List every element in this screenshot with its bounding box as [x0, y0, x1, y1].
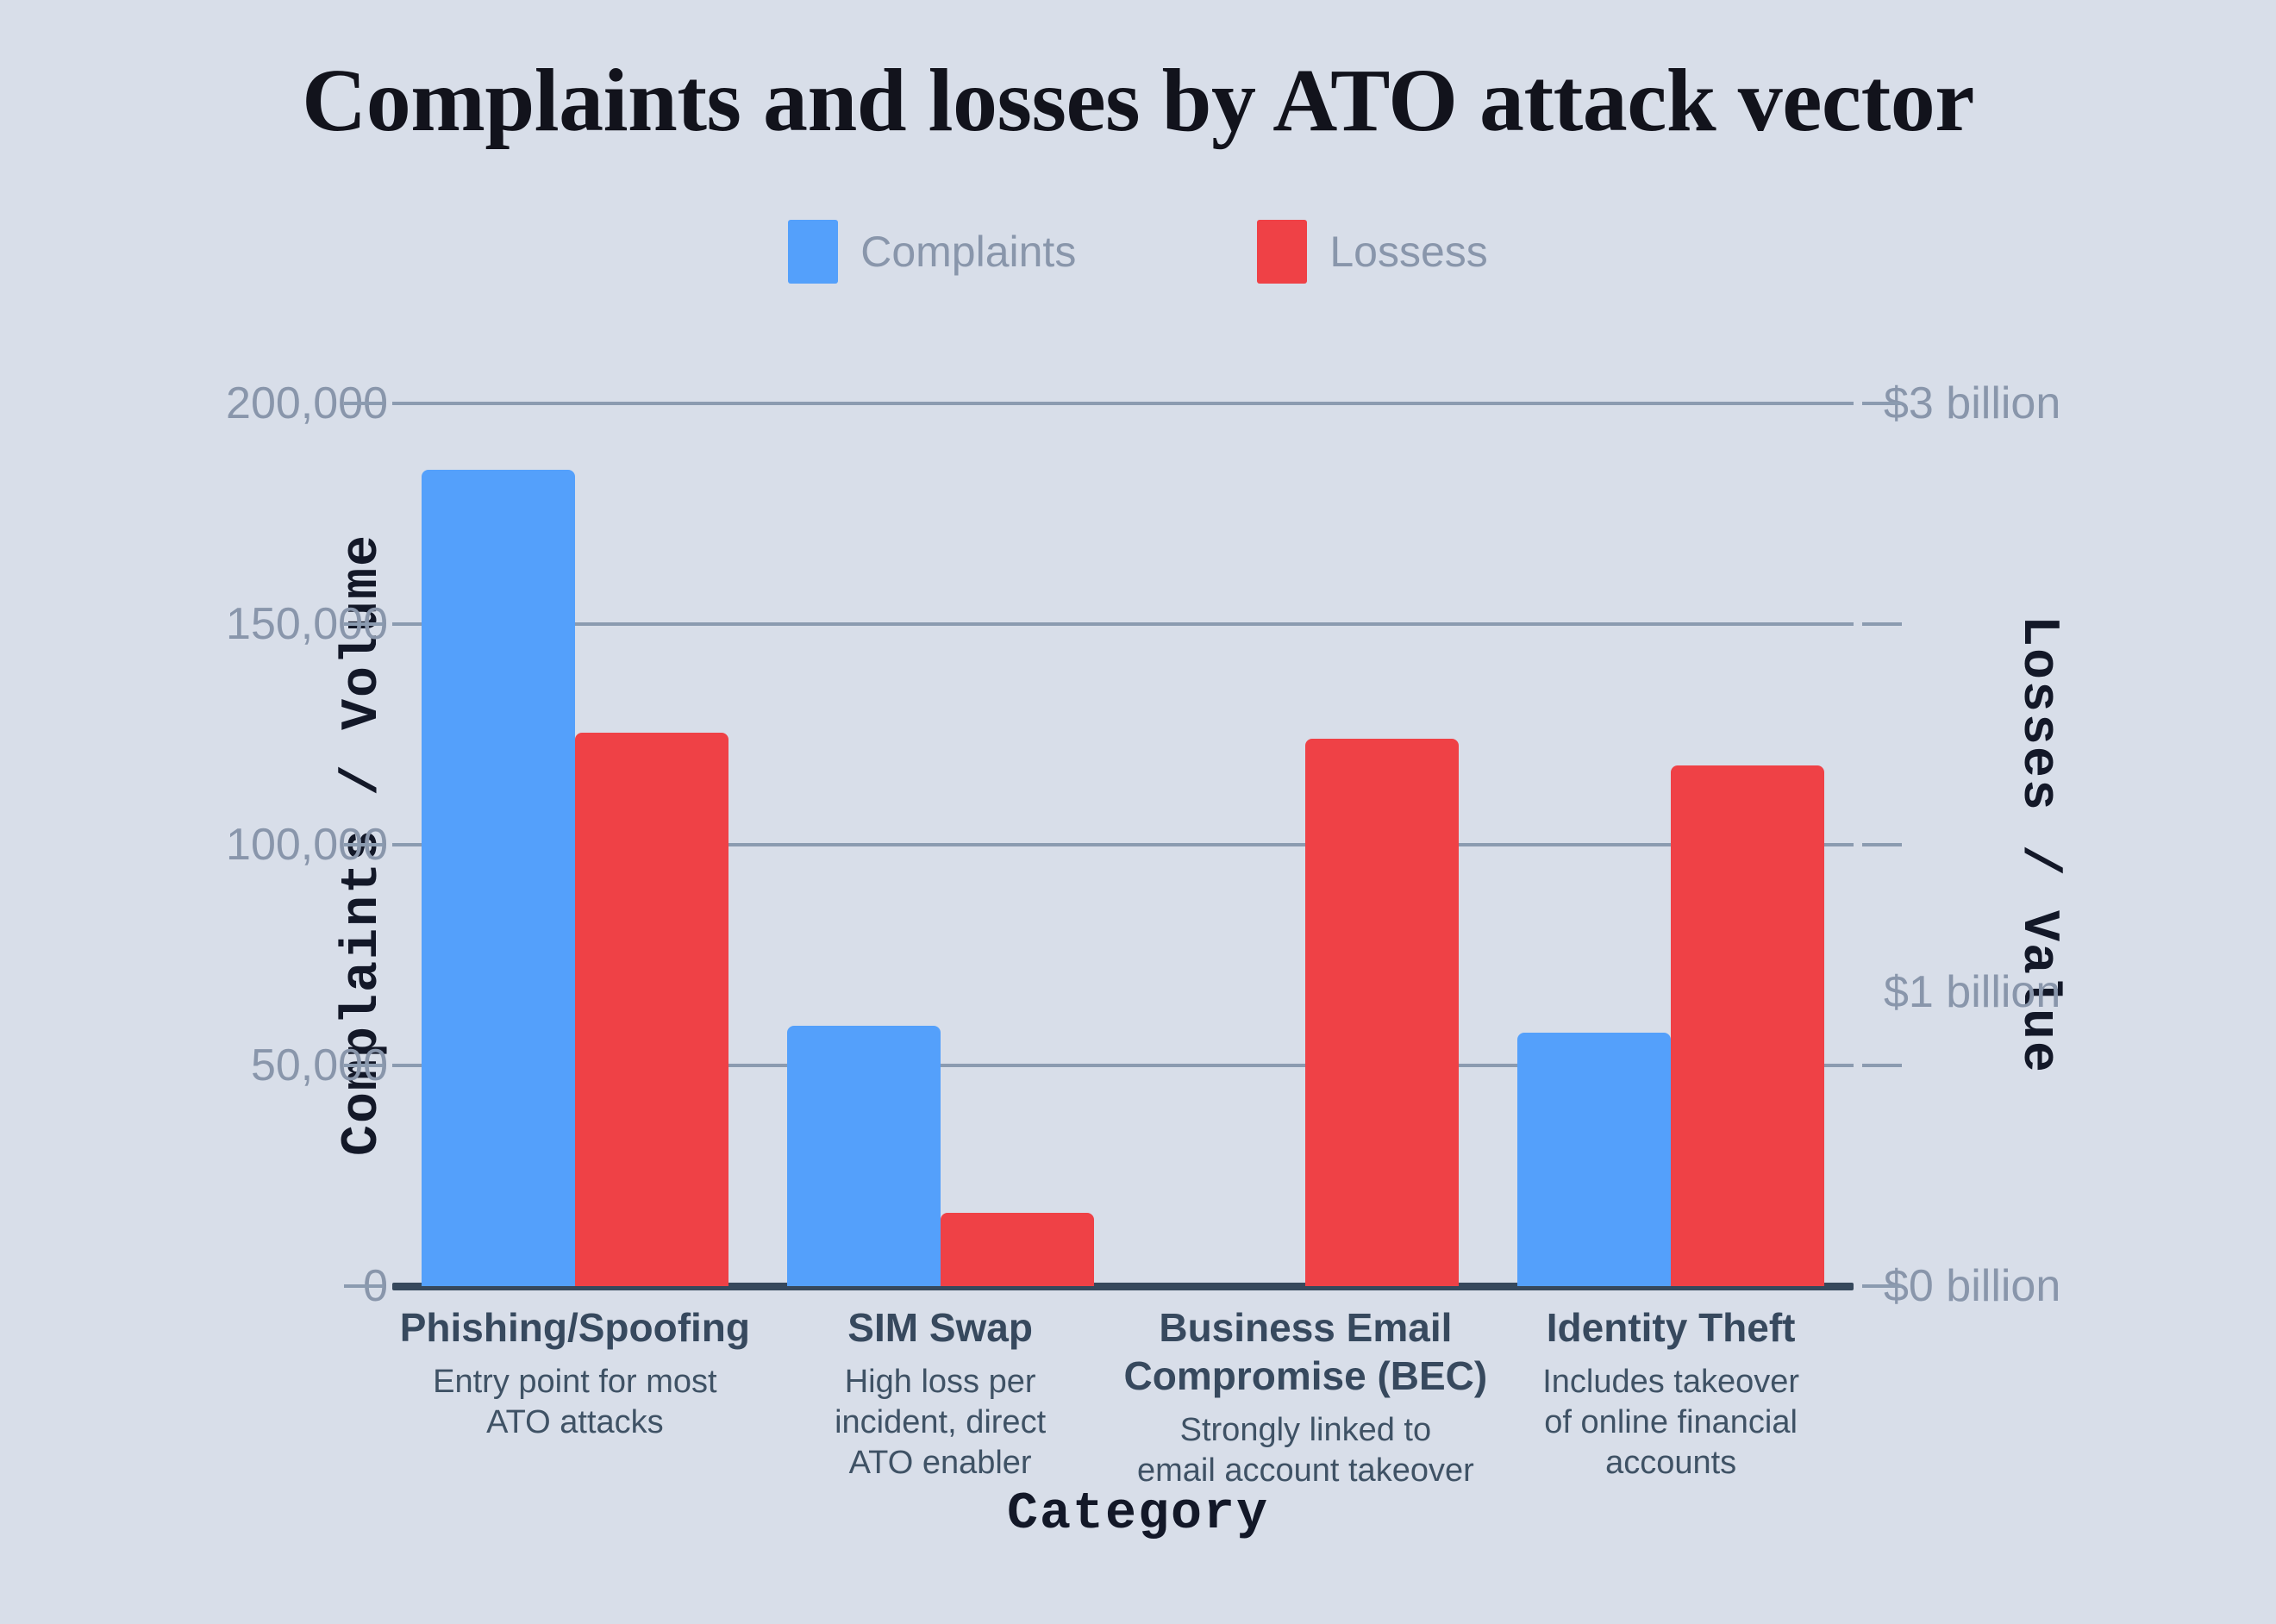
bar-losses[interactable]	[1671, 765, 1824, 1286]
tick-mark-left	[344, 843, 384, 846]
bar-complaints[interactable]	[1517, 1033, 1671, 1286]
x-category-name: Phishing/Spoofing	[375, 1303, 775, 1352]
tick-mark-left	[344, 622, 384, 626]
x-category-name: Business Email Compromise (BEC)	[1106, 1303, 1506, 1400]
x-category-group: Business Email Compromise (BEC)Strongly …	[1106, 1303, 1506, 1491]
bar-losses[interactable]	[1305, 739, 1459, 1286]
x-category-group: Phishing/SpoofingEntry point for most AT…	[375, 1303, 775, 1443]
legend-swatch-losses	[1257, 220, 1307, 284]
y-tick-label-right: $3 billion	[1884, 378, 2060, 429]
gridline	[392, 402, 1854, 405]
page-title: Complaints and losses by ATO attack vect…	[0, 52, 2276, 150]
x-category-description: High loss per incident, direct ATO enabl…	[741, 1362, 1141, 1483]
x-axis-title: Category	[0, 1485, 2276, 1544]
tick-mark-left	[344, 402, 384, 405]
x-category-description: Entry point for most ATO attacks	[375, 1362, 775, 1443]
plot-area	[392, 403, 1854, 1286]
x-category-description: Strongly linked to email account takeove…	[1106, 1410, 1506, 1491]
legend-item-losses[interactable]: Lossess	[1257, 220, 1487, 284]
y-tick-label-right: $1 billion	[1884, 966, 2060, 1018]
tick-mark-left	[344, 1284, 384, 1288]
tick-mark-right	[1862, 1284, 1902, 1288]
legend-item-complaints[interactable]: Complaints	[788, 220, 1076, 284]
legend-label-complaints: Complaints	[860, 227, 1076, 277]
x-category-name: SIM Swap	[741, 1303, 1141, 1352]
chart-legend: Complaints Lossess	[0, 220, 2276, 284]
gridline	[392, 622, 1854, 626]
tick-mark-right	[1862, 843, 1902, 846]
y-tick-label-right: $0 billion	[1884, 1260, 2060, 1312]
bar-complaints[interactable]	[422, 470, 575, 1286]
tick-mark-right	[1862, 402, 1902, 405]
bar-losses[interactable]	[941, 1213, 1094, 1286]
x-category-group: SIM SwapHigh loss per incident, direct A…	[741, 1303, 1141, 1483]
x-category-group: Identity TheftIncludes takeover of onlin…	[1471, 1303, 1871, 1483]
x-category-description: Includes takeover of online financial ac…	[1471, 1362, 1871, 1483]
bar-losses[interactable]	[575, 733, 728, 1286]
x-category-name: Identity Theft	[1471, 1303, 1871, 1352]
legend-label-losses: Lossess	[1329, 227, 1487, 277]
tick-mark-left	[344, 1064, 384, 1067]
tick-mark-right	[1862, 622, 1902, 626]
legend-swatch-complaints	[788, 220, 838, 284]
tick-mark-right	[1862, 1064, 1902, 1067]
bar-complaints[interactable]	[787, 1026, 941, 1286]
